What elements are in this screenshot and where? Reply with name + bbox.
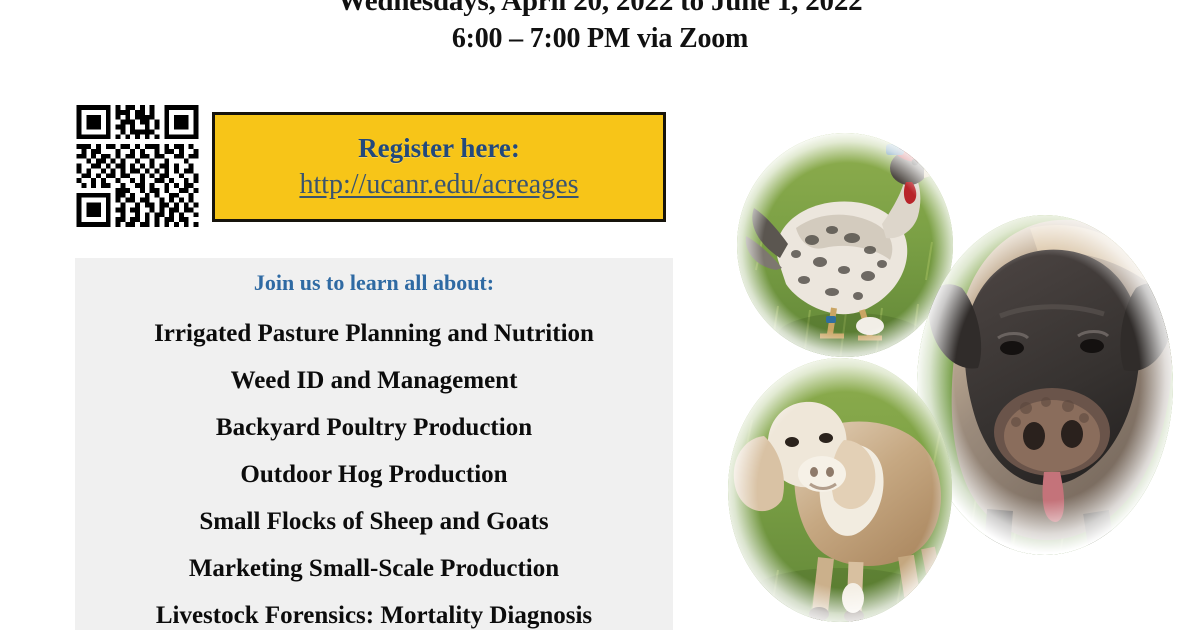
list-item: Backyard Poultry Production [75, 404, 673, 451]
topics-list: Irrigated Pasture Planning and Nutrition… [75, 310, 673, 630]
flyer-page: Wednesdays, April 20, 2022 to June 1, 20… [0, 0, 1200, 630]
event-time: 6:00 – 7:00 PM via Zoom [0, 22, 1200, 56]
list-item: Marketing Small-Scale Production [75, 545, 673, 592]
topics-panel: Join us to learn all about: Irrigated Pa… [75, 258, 673, 630]
topics-heading: Join us to learn all about: [75, 270, 673, 296]
animal-photo-collage [700, 120, 1200, 630]
event-dates: Wednesdays, April 20, 2022 to June 1, 20… [0, 0, 1200, 18]
list-item: Weed ID and Management [75, 357, 673, 404]
header: Wednesdays, April 20, 2022 to June 1, 20… [0, 0, 1200, 56]
list-item: Irrigated Pasture Planning and Nutrition [75, 310, 673, 357]
register-box[interactable]: Register here: http://ucanr.edu/acreages [212, 112, 666, 222]
list-item: Livestock Forensics: Mortality Diagnosis [75, 592, 673, 630]
list-item: Small Flocks of Sheep and Goats [75, 498, 673, 545]
list-item: Outdoor Hog Production [75, 451, 673, 498]
register-heading: Register here: [358, 133, 520, 163]
registration-link[interactable]: http://ucanr.edu/acreages [299, 169, 578, 201]
qr-code-icon[interactable] [75, 105, 200, 227]
